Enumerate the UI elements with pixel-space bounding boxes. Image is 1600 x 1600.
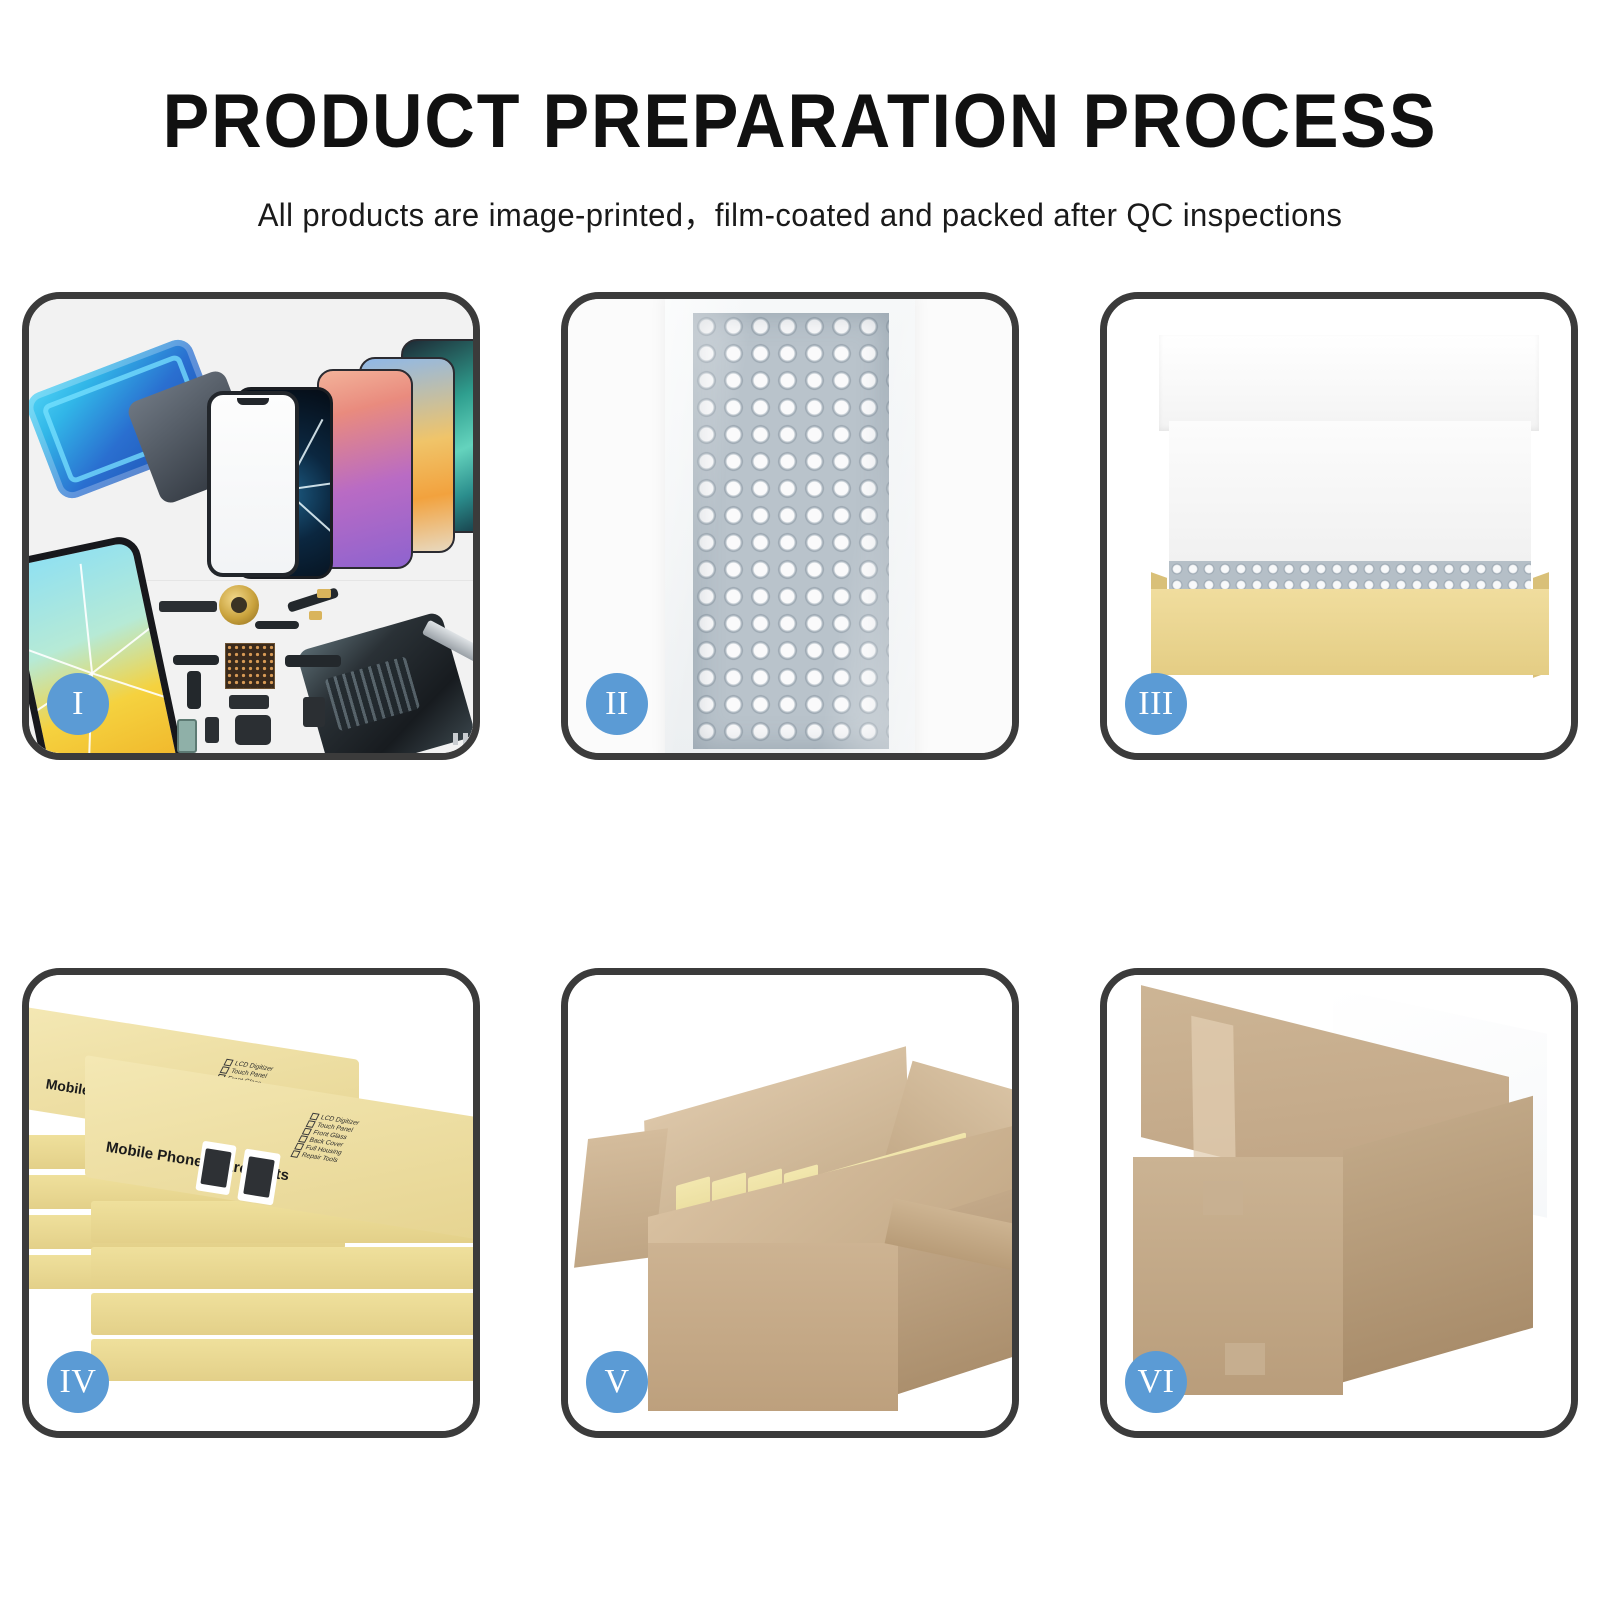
checkbox-icon <box>290 1150 300 1158</box>
checkbox-icon <box>220 1066 230 1074</box>
step-panel-6[interactable]: VI <box>1100 968 1578 1438</box>
step-badge-2: II <box>586 673 648 735</box>
step-panel-3[interactable]: III <box>1100 292 1578 760</box>
stacked-box-front-3 <box>91 1293 473 1335</box>
checkbox-icon <box>309 1113 319 1121</box>
infographic-page: PRODUCT PREPARATION PROCESS All products… <box>0 0 1600 1600</box>
step-badge-6: VI <box>1125 1351 1187 1413</box>
step-badge-1: I <box>47 673 109 735</box>
checkbox-icon <box>223 1059 233 1067</box>
small-connector-part <box>205 717 219 743</box>
step-panel-1[interactable]: I <box>22 292 480 760</box>
tape-tab-lower <box>1225 1343 1265 1375</box>
process-step-grid: I II III <box>0 0 1600 1600</box>
step-badge-3: III <box>1125 673 1187 735</box>
vibration-motor-part <box>235 715 271 745</box>
checkbox-icon <box>298 1135 308 1143</box>
gold-connector-pad-b <box>309 611 322 620</box>
step-badge-5: V <box>586 1351 648 1413</box>
camera-module-part <box>303 697 325 727</box>
front-glass-protector <box>207 391 299 577</box>
screws-set <box>453 733 473 745</box>
flex-cable-part-e <box>285 655 341 667</box>
step-panel-4[interactable]: Mobile Phone Spare Parts LCD Digitizer T… <box>22 968 480 1438</box>
flex-cable-part-d <box>187 671 201 709</box>
carton-front-wall <box>648 1243 898 1411</box>
plastic-sheen <box>665 299 915 753</box>
bubble-wrapped-package <box>665 299 915 753</box>
tape-tab-upper <box>1203 1181 1243 1215</box>
flex-cable-part-b <box>255 621 299 629</box>
step-badge-4: IV <box>47 1351 109 1413</box>
stacked-box-front-2 <box>91 1247 473 1289</box>
gold-connector-pad-a <box>317 589 331 598</box>
stacked-box-front-4 <box>91 1339 473 1381</box>
box-front-wall <box>1151 589 1549 675</box>
loudspeaker-module-part <box>229 695 269 709</box>
checkbox-icon <box>302 1128 312 1136</box>
checkbox-icon <box>294 1143 304 1151</box>
sim-tray-part <box>177 719 197 753</box>
box-lid-inner-panel <box>1169 421 1531 571</box>
step-panel-5[interactable]: V <box>561 968 1019 1438</box>
box-lid-flap <box>1159 335 1539 431</box>
ic-chip-part <box>225 643 275 689</box>
checkbox-icon <box>306 1120 316 1128</box>
earpiece-speaker-part <box>159 601 217 612</box>
flex-cable-part-c <box>173 655 219 665</box>
step-panel-2[interactable]: II <box>561 292 1019 760</box>
wireless-charging-coil-part <box>219 585 259 625</box>
